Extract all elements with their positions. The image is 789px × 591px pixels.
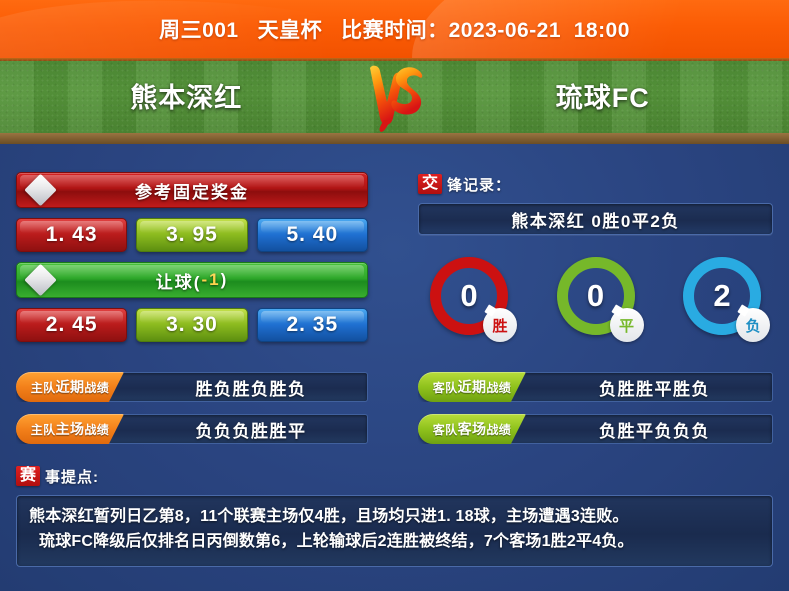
- label-part-mid: 主场: [56, 419, 85, 439]
- fixed-odd-home[interactable]: 1. 43: [16, 218, 127, 252]
- label-part-suffix: 战绩: [486, 421, 511, 438]
- home-recent-form-row: 主队近期战绩 胜负胜负胜负: [16, 372, 368, 402]
- label-part-mid: 客场: [458, 419, 487, 439]
- fixed-odds-title-bar: 参考固定奖金: [16, 172, 368, 208]
- label-part-suffix: 战绩: [84, 421, 109, 438]
- fixed-odd-away[interactable]: 5. 40: [257, 218, 368, 252]
- pitch-banner: 熊本深红 琉球FC: [0, 58, 789, 144]
- tips-panel: 赛 事提点: 熊本深红暂列日乙第8，11个联赛主场仅4胜，且场均只进1. 18球…: [16, 464, 773, 567]
- h2h-loss-tag: 负: [736, 308, 770, 342]
- handicap-title-prefix: 让球(: [156, 268, 202, 293]
- vs-icon: [347, 60, 443, 132]
- h2h-ring-draw: 0 平: [557, 257, 635, 335]
- label-part-prefix: 客队: [433, 421, 458, 438]
- dirt-strip: [0, 133, 789, 144]
- handicap-odds-row: 2. 45 3. 30 2. 35: [16, 308, 368, 342]
- odds-panel: 参考固定奖金 1. 43 3. 95 5. 40 让球(-1 ) 2. 45 3…: [16, 172, 368, 352]
- handicap-title-bar: 让球(-1 ): [16, 262, 368, 298]
- home-home-form-row: 主队主场战绩 负负负胜胜平: [16, 414, 368, 444]
- h2h-rings: 0 胜 0 平 2 负: [418, 257, 773, 335]
- h2h-win-tag: 胜: [483, 308, 517, 342]
- match-header-title: 周三001 天皇杯 比赛时间：2023-06-21 18:00: [0, 0, 789, 58]
- away-form-panel: 客队近期战绩 负胜胜平胜负 客队客场战绩 负胜平负负负: [418, 372, 773, 456]
- tips-badge-icon: 赛: [16, 466, 40, 487]
- home-recent-form-label: 主队近期战绩: [16, 372, 124, 402]
- h2h-panel: 交 锋记录： 熊本深红 0胜0平2负 0 胜 0 平 2 负: [418, 172, 773, 335]
- match-preview-card: 周三001 天皇杯 比赛时间：2023-06-21 18:00 熊本深红: [0, 0, 789, 591]
- home-team-name: 熊本深红: [26, 76, 347, 115]
- handicap-odd-home[interactable]: 2. 45: [16, 308, 127, 342]
- teams-row: 熊本深红 琉球FC: [0, 58, 789, 133]
- label-part-prefix: 主队: [31, 421, 56, 438]
- tips-line-away: 琉球FC降级后仅排名日丙倒数第6，上轮输球后2连胜被终结，7个客场1胜2平4负。: [29, 530, 760, 555]
- h2h-ring-loss: 2 负: [683, 257, 761, 335]
- match-header-bar: 周三001 天皇杯 比赛时间：2023-06-21 18:00: [0, 0, 789, 58]
- label-part-prefix: 主队: [31, 379, 56, 396]
- tips-label-text: 事提点:: [45, 466, 99, 487]
- home-home-form-label: 主队主场战绩: [16, 414, 124, 444]
- home-recent-form-results: 胜负胜负胜负: [104, 372, 368, 402]
- handicap-value: -1: [201, 270, 220, 290]
- away-recent-form-label: 客队近期战绩: [418, 372, 526, 402]
- home-home-form-results: 负负负胜胜平: [104, 414, 368, 444]
- away-away-form-row: 客队客场战绩 负胜平负负负: [418, 414, 773, 444]
- handicap-odd-away[interactable]: 2. 35: [257, 308, 368, 342]
- home-form-panel: 主队近期战绩 胜负胜负胜负 主队主场战绩 负负负胜胜平: [16, 372, 368, 456]
- away-away-form-results: 负胜平负负负: [506, 414, 773, 444]
- tips-line-home: 熊本深红暂列日乙第8，11个联赛主场仅4胜，且场均只进1. 18球，主场遭遇3连…: [29, 505, 760, 530]
- fixed-odd-draw[interactable]: 3. 95: [136, 218, 247, 252]
- h2h-label-text: 锋记录：: [447, 174, 511, 195]
- tips-section-label: 赛 事提点:: [16, 464, 773, 488]
- label-part-suffix: 战绩: [486, 379, 511, 396]
- h2h-section-label: 交 锋记录：: [418, 172, 773, 196]
- diamond-icon: [24, 264, 57, 297]
- h2h-ring-win: 0 胜: [430, 257, 508, 335]
- label-part-mid: 近期: [56, 377, 85, 397]
- tips-box: 熊本深红暂列日乙第8，11个联赛主场仅4胜，且场均只进1. 18球，主场遭遇3连…: [16, 495, 773, 567]
- handicap-odd-draw[interactable]: 3. 30: [136, 308, 247, 342]
- label-part-prefix: 客队: [433, 379, 458, 396]
- h2h-summary: 熊本深红 0胜0平2负: [418, 203, 773, 235]
- h2h-badge-icon: 交: [418, 174, 442, 195]
- fixed-odds-title: 参考固定奖金: [135, 178, 249, 203]
- handicap-title-suffix: ): [221, 270, 229, 290]
- diamond-icon: [24, 174, 57, 207]
- h2h-draw-tag: 平: [610, 308, 644, 342]
- fixed-odds-row: 1. 43 3. 95 5. 40: [16, 218, 368, 252]
- label-part-suffix: 战绩: [84, 379, 109, 396]
- away-recent-form-row: 客队近期战绩 负胜胜平胜负: [418, 372, 773, 402]
- label-part-mid: 近期: [458, 377, 487, 397]
- away-away-form-label: 客队客场战绩: [418, 414, 526, 444]
- away-recent-form-results: 负胜胜平胜负: [506, 372, 773, 402]
- away-team-name: 琉球FC: [443, 76, 764, 115]
